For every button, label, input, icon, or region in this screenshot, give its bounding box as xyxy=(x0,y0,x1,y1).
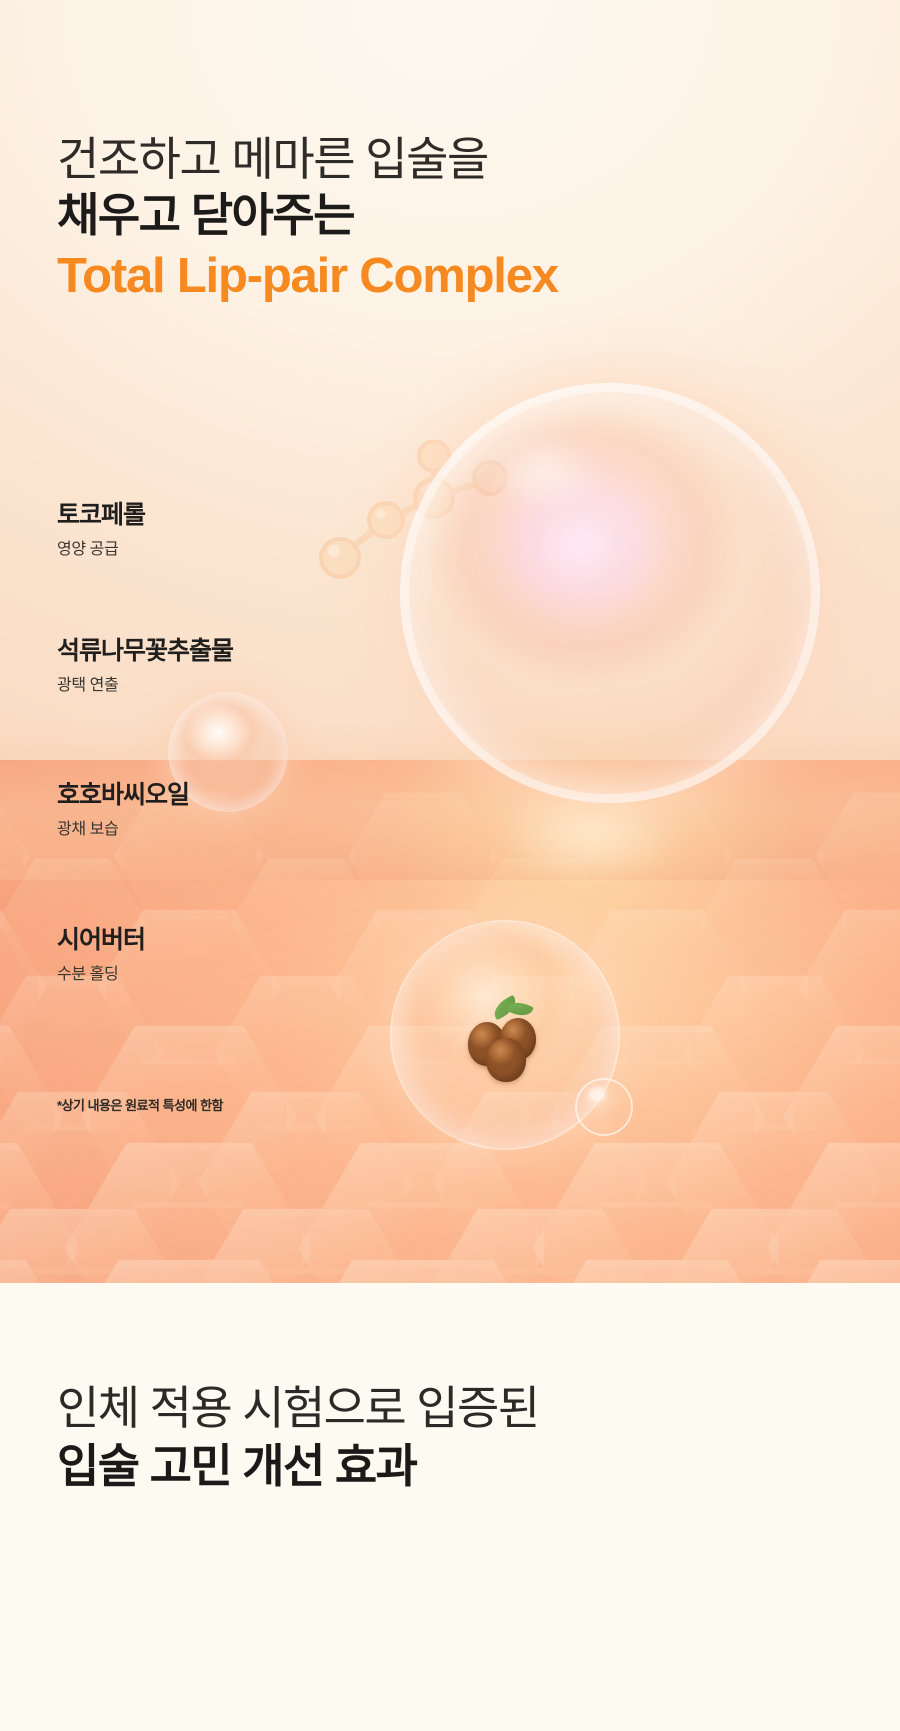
ingredient-desc: 광채 보습 xyxy=(57,820,189,839)
ingredient-desc: 수분 홀딩 xyxy=(57,965,145,984)
clinical-result-line-1: 인체 적용 시험으로 입증된 xyxy=(57,1380,817,1436)
ingredient-name: 시어버터 xyxy=(57,925,145,955)
product-detail-page: 건조하고 메마른 입술을 채우고 닫아주는 Total Lip-pair Com… xyxy=(0,0,900,1731)
clinical-result-section: 인체 적용 시험으로 입증된 입술 고민 개선 효과 xyxy=(0,1283,900,1731)
ingredient-name: 토코페롤 xyxy=(57,500,145,530)
hero-section: 건조하고 메마른 입술을 채우고 닫아주는 Total Lip-pair Com… xyxy=(0,0,900,1283)
hero-title-line-1: 건조하고 메마른 입술을 xyxy=(57,132,757,186)
shea-nut-icon xyxy=(452,1000,560,1082)
ingredient-name: 석류나무꽃추출물 xyxy=(57,636,233,666)
ingredient-item-tocopherol: 토코페롤 영양 공급 xyxy=(57,500,145,559)
hero-title-line-3: Total Lip-pair Complex xyxy=(57,245,757,309)
ingredient-item-shea-butter: 시어버터 수분 홀딩 xyxy=(57,925,145,984)
ingredient-desc: 광택 연출 xyxy=(57,676,233,695)
ingredient-name: 호호바씨오일 xyxy=(57,780,189,810)
hero-title: 건조하고 메마른 입술을 채우고 닫아주는 Total Lip-pair Com… xyxy=(57,132,757,309)
ingredient-item-jojoba-seed-oil: 호호바씨오일 광채 보습 xyxy=(57,780,189,839)
ingredient-desc: 영양 공급 xyxy=(57,540,145,559)
ingredient-item-pomegranate-flower-extract: 석류나무꽃추출물 광택 연출 xyxy=(57,636,233,695)
clinical-result-line-2: 입술 고민 개선 효과 xyxy=(57,1436,817,1497)
hero-title-line-2: 채우고 닫아주는 xyxy=(57,186,757,245)
clinical-result-title: 인체 적용 시험으로 입증된 입술 고민 개선 효과 xyxy=(57,1380,817,1497)
ingredient-footnote: *상기 내용은 원료적 특성에 한함 xyxy=(57,1095,223,1114)
pearl-bubble-tiny xyxy=(575,1078,633,1136)
pearl-bubble-large-rim xyxy=(400,383,820,803)
pearl-bubble-tiny-highlight xyxy=(588,1087,606,1101)
